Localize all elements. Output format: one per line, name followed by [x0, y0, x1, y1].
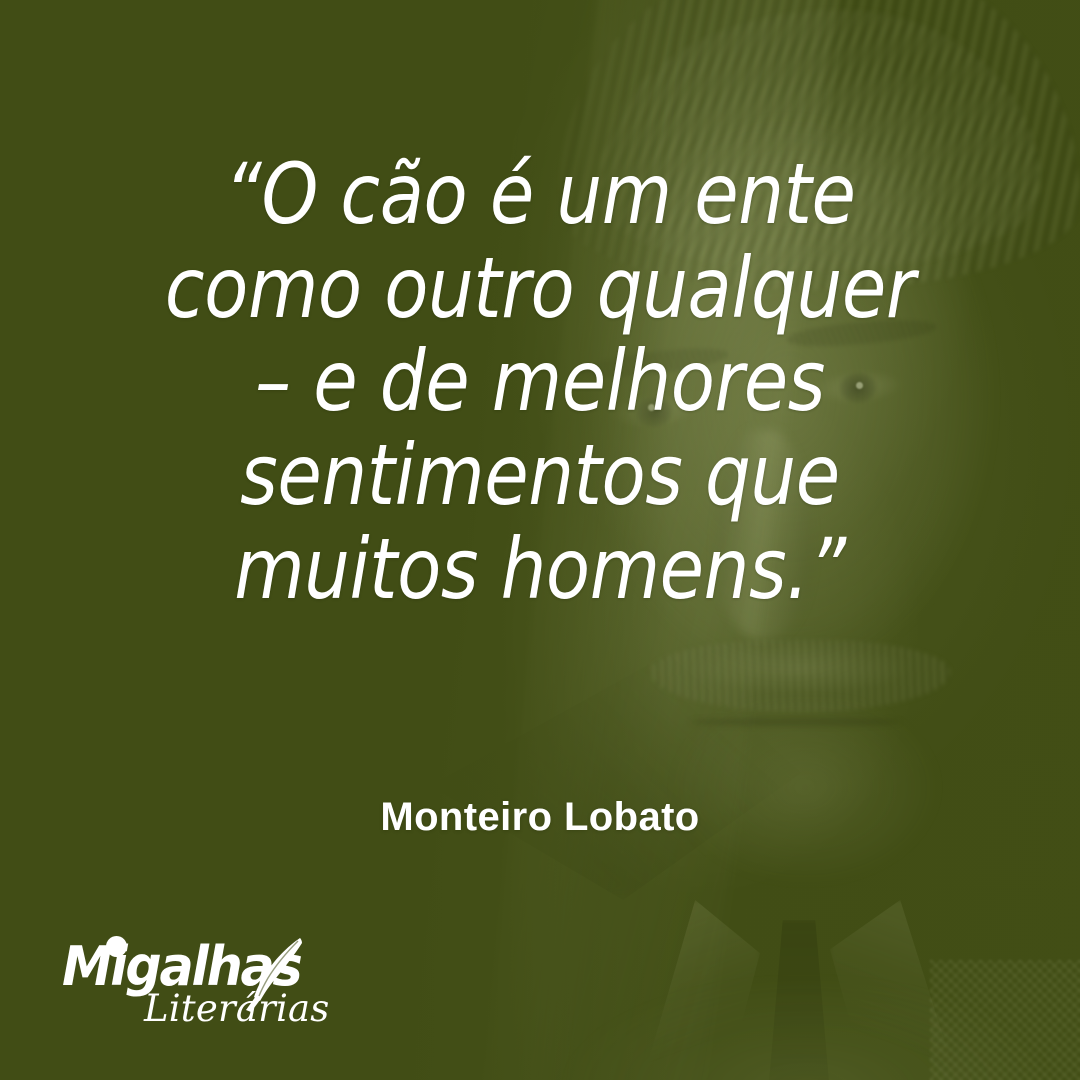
migalhas-literarias-logo[interactable]: Migalhas Literárias	[62, 932, 332, 1032]
quote-author: Monteiro Lobato	[0, 795, 1080, 840]
logo-i-dot	[106, 936, 127, 957]
card-content: “O cão é um ente como outro qualquer – e…	[0, 0, 1080, 1080]
logo-subtitle: Literárias	[144, 990, 329, 1027]
quote-text: “O cão é um ente como outro qualquer – e…	[76, 148, 1005, 616]
quote-card: “O cão é um ente como outro qualquer – e…	[0, 0, 1080, 1080]
